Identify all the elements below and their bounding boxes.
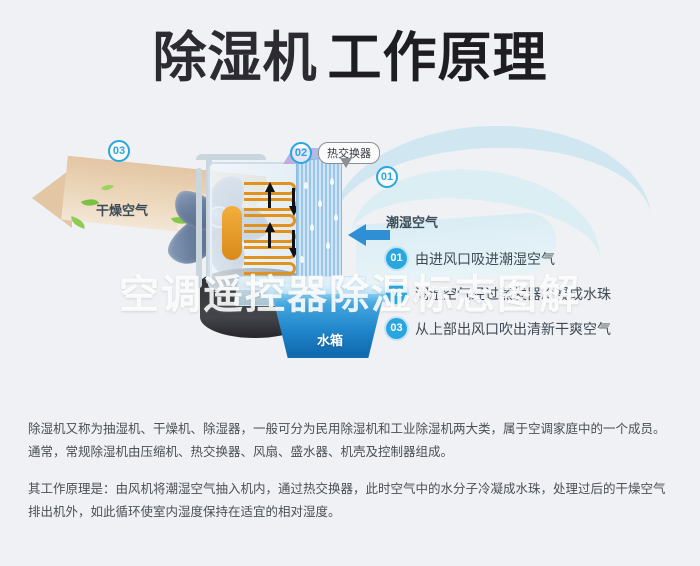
airflow-indicator xyxy=(292,188,295,206)
diagram-badge-02: 02 xyxy=(290,142,312,164)
step-item: 03 从上部出风口吹出清新干爽空气 xyxy=(386,318,686,339)
water-tank-label: 水箱 xyxy=(300,330,360,349)
step-text: 由进风口吸进潮湿空气 xyxy=(415,249,555,269)
step-text: 潮湿空气经过蒸发器冷凝成水珠 xyxy=(415,284,611,304)
water-droplet xyxy=(304,182,308,189)
evaporator-fins xyxy=(296,155,342,287)
water-droplet xyxy=(326,242,330,249)
diagram-badge-03: 03 xyxy=(108,140,130,162)
refrigerant-pipe xyxy=(196,168,202,288)
refrigerant-pipe xyxy=(196,154,266,160)
airflow-arrow-up-icon xyxy=(265,182,275,192)
intake-arrow-tail xyxy=(364,230,390,240)
page-title-part1: 除湿机 xyxy=(153,26,318,89)
step-badge: 01 xyxy=(386,248,407,269)
dry-air-label: 干燥空气 xyxy=(96,200,148,219)
airflow-arrow-up-icon xyxy=(265,222,275,232)
airflow-indicator xyxy=(268,230,271,248)
step-text: 从上部出风口吹出清新干爽空气 xyxy=(415,319,611,339)
airflow-indicator xyxy=(292,230,295,248)
paragraph-2: 其工作原理是：由风机将潮湿空气抽入机内，通过热交换器，此时空气中的水分子冷凝成水… xyxy=(28,478,676,524)
step-item: 02 潮湿空气经过蒸发器冷凝成水珠 xyxy=(386,283,686,304)
water-droplet xyxy=(310,224,314,231)
body-copy: 除湿机又称为抽湿机、干燥机、除湿器，一般可分为民用除湿机和工业除湿机两大类，属于… xyxy=(28,418,676,539)
humid-air-label: 潮湿空气 xyxy=(386,212,438,231)
water-droplet xyxy=(300,256,304,263)
compressor xyxy=(222,206,242,260)
step-badge: 03 xyxy=(386,318,407,339)
callout-tail-icon xyxy=(340,158,352,168)
page-title: 除湿机工作原理 xyxy=(0,28,700,87)
diagram-badge-01: 01 xyxy=(376,166,398,188)
airflow-indicator xyxy=(268,190,271,208)
paragraph-1: 除湿机又称为抽湿机、干燥机、除湿器，一般可分为民用除湿机和工业除湿机两大类，属于… xyxy=(28,418,676,464)
water-droplet xyxy=(318,200,322,207)
page-title-part2: 工作原理 xyxy=(328,26,548,89)
infographic-page: 除湿机工作原理 xyxy=(0,0,700,566)
step-badge: 02 xyxy=(386,283,407,304)
water-droplet xyxy=(330,178,334,185)
water-droplet xyxy=(334,214,338,221)
step-item: 01 由进风口吸进潮湿空气 xyxy=(386,248,686,269)
steps-list: 01 由进风口吸进潮湿空气 02 潮湿空气经过蒸发器冷凝成水珠 03 从上部出风… xyxy=(386,248,686,353)
